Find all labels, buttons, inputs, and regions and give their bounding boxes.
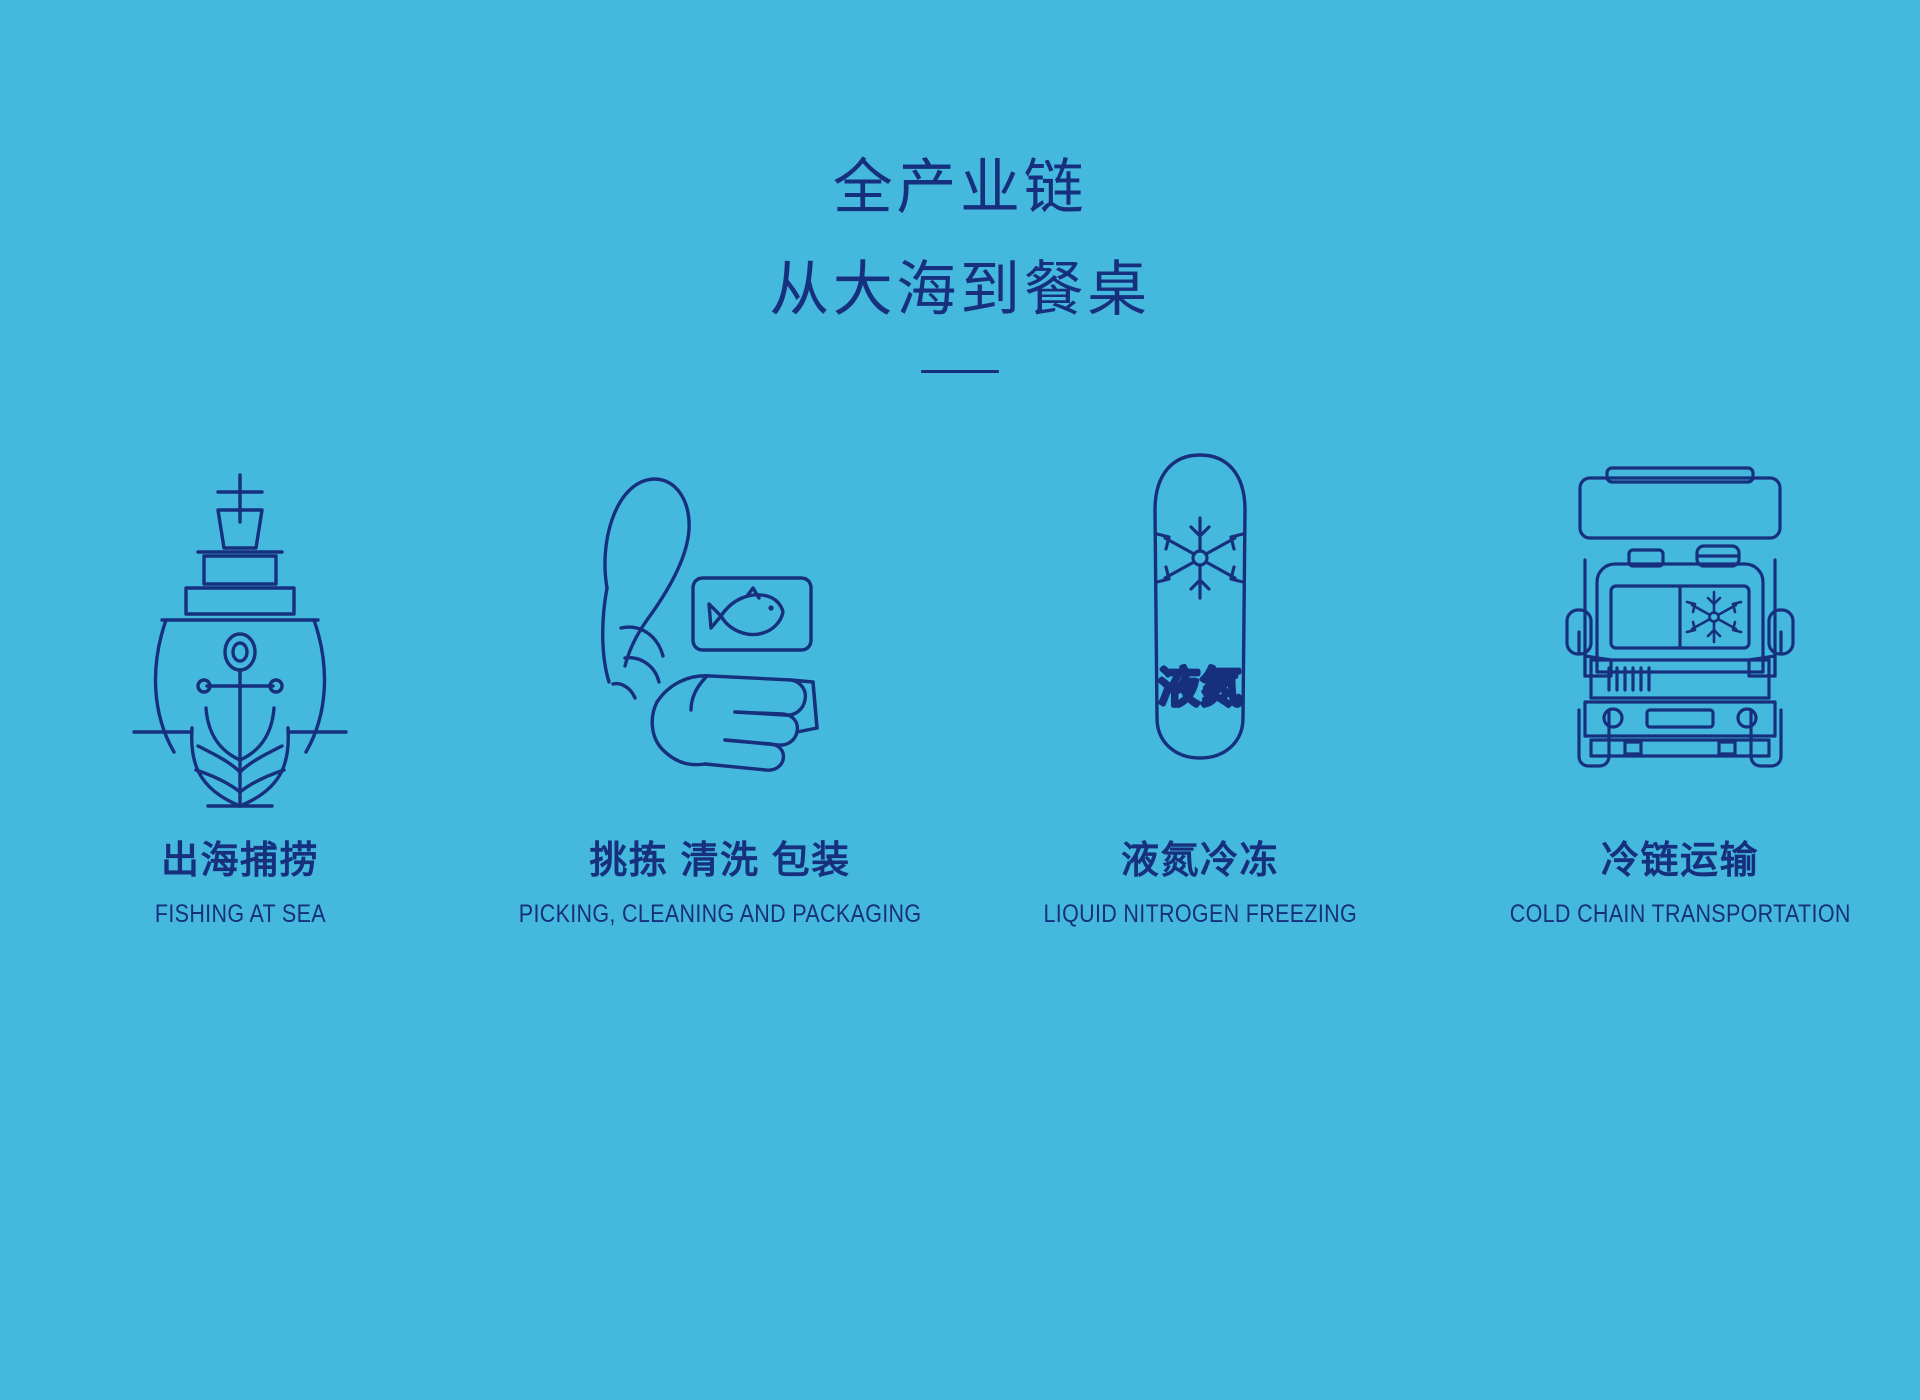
step-4-captions: 冷链运输 COLD CHAIN TRANSPORTATION bbox=[1482, 842, 1878, 927]
liquid-nitrogen-tank-icon: 液氮 bbox=[1125, 450, 1275, 770]
step-4-title-cn: 冷链运输 bbox=[1482, 842, 1878, 880]
step-3-captions: 液氮冷冻 LIQUID NITROGEN FREEZING bbox=[1018, 842, 1383, 927]
step-fishing-at-sea: 出海捕捞 FISHING AT SEA bbox=[0, 430, 480, 927]
step-2-icon-wrap bbox=[585, 430, 855, 770]
step-picking-cleaning-packaging: 挑拣 清洗 包装 PICKING, CLEANING AND PACKAGING bbox=[480, 430, 960, 927]
title-divider bbox=[921, 370, 999, 373]
step-1-title-en: FISHING AT SEA bbox=[154, 902, 325, 927]
step-cold-chain-transportation: 冷链运输 COLD CHAIN TRANSPORTATION bbox=[1440, 430, 1920, 927]
fish-package-icon bbox=[693, 578, 811, 650]
step-2-title-cn: 挑拣 清洗 包装 bbox=[486, 842, 954, 880]
step-2-title-en: PICKING, CLEANING AND PACKAGING bbox=[519, 902, 922, 927]
infographic-page: 全产业链 从大海到餐桌 bbox=[0, 0, 1920, 1400]
tank-label-text: 液氮 bbox=[1158, 664, 1242, 711]
snowflake-icon bbox=[1687, 592, 1741, 642]
page-header: 全产业链 从大海到餐桌 bbox=[0, 0, 1920, 373]
step-4-icon-wrap bbox=[1555, 430, 1805, 770]
process-steps-row: 出海捕捞 FISHING AT SEA bbox=[0, 430, 1920, 927]
snowflake-icon bbox=[1157, 518, 1243, 598]
step-3-title-cn: 液氮冷冻 bbox=[1018, 842, 1383, 880]
step-2-captions: 挑拣 清洗 包装 PICKING, CLEANING AND PACKAGING bbox=[486, 842, 954, 927]
step-1-captions: 出海捕捞 FISHING AT SEA bbox=[141, 842, 340, 927]
page-title-line-2: 从大海到餐桌 bbox=[0, 260, 1920, 320]
step-3-title-en: LIQUID NITROGEN FREEZING bbox=[1043, 902, 1357, 927]
page-title-line-1: 全产业链 bbox=[0, 158, 1920, 218]
step-3-icon-wrap: 液氮 bbox=[1125, 430, 1275, 770]
step-1-title-cn: 出海捕捞 bbox=[141, 842, 340, 880]
step-1-icon-wrap bbox=[130, 430, 350, 770]
step-4-title-en: COLD CHAIN TRANSPORTATION bbox=[1510, 902, 1851, 927]
refrigerated-truck-icon bbox=[1555, 460, 1805, 770]
fishing-boat-icon bbox=[130, 470, 350, 770]
step-liquid-nitrogen-freezing: 液氮 液氮冷冻 LIQUID NITROGEN FREEZING bbox=[960, 430, 1440, 927]
hands-fish-package-icon bbox=[585, 470, 855, 770]
